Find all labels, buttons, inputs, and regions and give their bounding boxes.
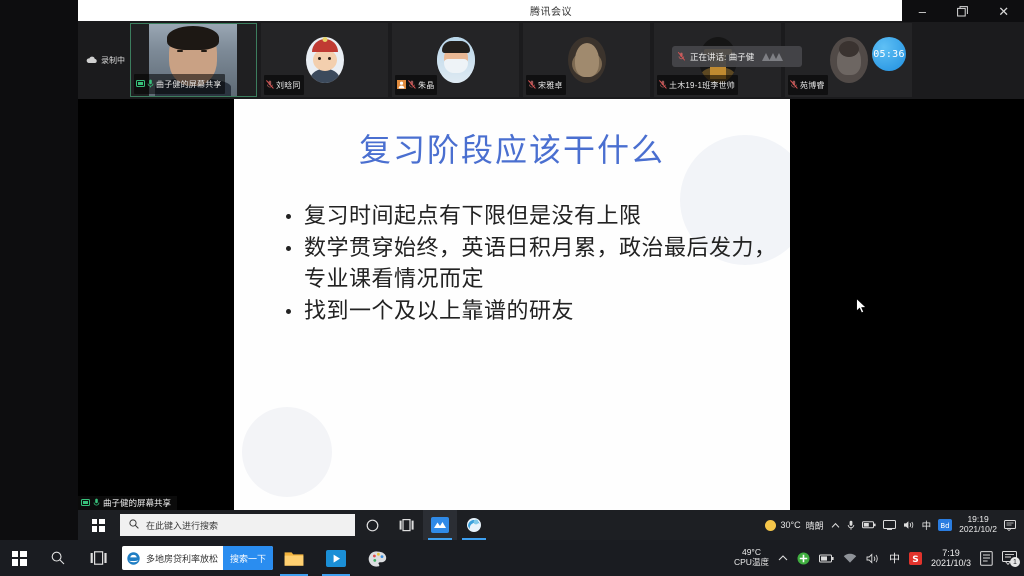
slide-bullet-list: 复习时间起点有下限但是没有上限 数学贯穿始终，英语日积月累，政治最后发力，专业课… bbox=[282, 201, 790, 326]
file-explorer-icon[interactable] bbox=[273, 540, 315, 576]
microphone-muted-icon bbox=[528, 76, 536, 94]
participant-namebar: 朱晶 bbox=[395, 75, 437, 95]
inner-taskbar: 在此键入进行搜索 30°C 晴朗 bbox=[78, 510, 1024, 540]
window-controls: – ✕ bbox=[902, 0, 1024, 22]
volume-icon[interactable] bbox=[903, 520, 915, 530]
mouse-cursor bbox=[856, 298, 867, 319]
internet-explorer-icon bbox=[122, 546, 144, 570]
screen-share-icon bbox=[136, 75, 145, 93]
media-player-icon[interactable] bbox=[315, 540, 357, 576]
ie-search-widget[interactable]: 多地房贷利率放松 搜索一下 bbox=[122, 546, 273, 570]
desktop: 腾讯会议 录制中 bbox=[0, 0, 1024, 576]
cpu-temp-value: 49°C bbox=[742, 547, 761, 557]
participant-name: 刘晗同 bbox=[276, 80, 301, 91]
cloud-recording-icon bbox=[86, 56, 97, 64]
paint-3d-icon[interactable] bbox=[357, 540, 399, 576]
ie-search-query: 多地房贷利率放松 bbox=[144, 552, 223, 565]
cortana-circle-icon[interactable] bbox=[355, 510, 389, 540]
tencent-meeting-window: 腾讯会议 录制中 bbox=[78, 0, 1024, 540]
participant-tile-0[interactable]: 曲子健的屏幕共享 bbox=[130, 23, 257, 97]
participant-filmstrip: 录制中 bbox=[78, 21, 1024, 99]
participant-name: 土木19-1班李世帅 bbox=[669, 80, 735, 91]
sun-icon bbox=[765, 520, 776, 531]
participant-name: 宋雅卓 bbox=[538, 80, 563, 91]
presentation-slide: 复习阶段应该干什么 复习时间起点有下限但是没有上限 数学贯穿始终，英语日积月累，… bbox=[234, 99, 790, 511]
participant-tile-2[interactable]: 朱晶 bbox=[392, 23, 519, 97]
weather-desc: 晴朗 bbox=[806, 519, 824, 532]
microphone-icon[interactable] bbox=[847, 520, 855, 531]
svg-text:Bd: Bd bbox=[941, 522, 950, 530]
maximize-button[interactable] bbox=[948, 6, 978, 17]
battery-icon[interactable] bbox=[862, 521, 876, 529]
participant-tile-1[interactable]: 刘晗同 bbox=[261, 23, 388, 97]
clock-time: 7:19 bbox=[942, 548, 960, 558]
clock-time: 19:19 bbox=[967, 514, 988, 524]
screen-share-banner-label: 曲子健的屏幕共享 bbox=[103, 497, 171, 509]
slide-decoration-circle bbox=[242, 407, 332, 497]
participant-name: 朱晶 bbox=[418, 80, 434, 91]
slide-bullet: 复习时间起点有下限但是没有上限 bbox=[282, 201, 790, 231]
weather-widget[interactable]: 30°C 晴朗 bbox=[765, 519, 824, 532]
notification-icon[interactable] bbox=[1004, 520, 1016, 531]
participant-namebar: 曲子健的屏幕共享 bbox=[134, 74, 225, 94]
recording-indicator: 录制中 bbox=[78, 21, 130, 99]
cpu-temp-label: CPU温度 bbox=[734, 557, 769, 567]
user-badge-icon bbox=[397, 76, 406, 94]
baidu-icon[interactable]: Bd bbox=[938, 519, 952, 531]
notification-count-badge: 1 bbox=[1010, 557, 1020, 567]
microphone-muted-icon bbox=[678, 48, 685, 66]
notes-icon[interactable] bbox=[980, 551, 993, 566]
task-view-icon[interactable] bbox=[78, 540, 118, 576]
participant-namebar: 土木19-1班李世帅 bbox=[657, 75, 738, 95]
meeting-timer: 05:36 bbox=[872, 37, 906, 71]
participant-namebar: 苑博睿 bbox=[788, 75, 828, 95]
cpu-temp-widget[interactable]: 49°C CPU温度 bbox=[734, 548, 769, 568]
battery-icon[interactable] bbox=[819, 554, 834, 563]
microphone-muted-icon bbox=[790, 76, 798, 94]
clock[interactable]: 19:19 2021/10/2 bbox=[959, 515, 997, 534]
shield-green-icon[interactable] bbox=[797, 552, 810, 565]
speaking-toast-label: 正在讲话: 曲子健 bbox=[690, 51, 754, 63]
search-placeholder: 在此键入进行搜索 bbox=[146, 519, 218, 532]
start-button[interactable] bbox=[0, 540, 38, 576]
windows-logo-icon bbox=[12, 551, 27, 566]
inner-system-tray: 30°C 晴朗 bbox=[765, 510, 1024, 540]
task-view-icon[interactable] bbox=[389, 510, 423, 540]
microphone-icon bbox=[147, 75, 154, 93]
sogou-icon[interactable]: S bbox=[909, 552, 922, 565]
microphone-muted-icon bbox=[408, 76, 416, 94]
start-button[interactable] bbox=[78, 510, 118, 540]
screen-share-banner: 曲子健的屏幕共享 bbox=[78, 496, 177, 510]
chevron-up-icon[interactable] bbox=[778, 554, 788, 562]
microphone-muted-icon bbox=[659, 76, 667, 94]
participant-tiles: 曲子健的屏幕共享 刘晗同 bbox=[130, 21, 1024, 99]
ime-chinese-icon[interactable]: 中 bbox=[922, 518, 932, 532]
windows-logo-icon bbox=[92, 519, 105, 532]
clock[interactable]: 7:19 2021/10/3 bbox=[931, 548, 971, 569]
monitor-icon[interactable] bbox=[883, 520, 896, 530]
participant-tile-5[interactable]: 05:36 苑博睿 bbox=[785, 23, 912, 97]
search-input[interactable]: 在此键入进行搜索 bbox=[120, 514, 355, 536]
sound-wave-icon bbox=[761, 52, 783, 62]
screen-share-icon bbox=[81, 494, 90, 512]
weather-temp: 30°C bbox=[781, 520, 801, 530]
notification-icon[interactable]: 1 bbox=[1002, 551, 1017, 565]
window-title: 腾讯会议 bbox=[530, 3, 572, 18]
microphone-muted-icon bbox=[266, 76, 274, 94]
speaking-toast: 正在讲话: 曲子健 bbox=[672, 46, 802, 67]
ie-search-go-button[interactable]: 搜索一下 bbox=[223, 546, 273, 570]
participant-namebar: 刘晗同 bbox=[264, 75, 304, 95]
participant-tile-3[interactable]: 宋雅卓 bbox=[523, 23, 650, 97]
outer-taskbar: 多地房贷利率放松 搜索一下 49°C CPU温度 bbox=[0, 540, 1024, 576]
svg-text:S: S bbox=[912, 555, 918, 565]
search-icon[interactable] bbox=[38, 540, 78, 576]
slide-bullet: 数学贯穿始终，英语日积月累，政治最后发力，专业课看情况而定 bbox=[282, 233, 790, 294]
shared-screen-area: 复习阶段应该干什么 复习时间起点有下限但是没有上限 数学贯穿始终，英语日积月累，… bbox=[78, 99, 1024, 540]
recording-label: 录制中 bbox=[101, 55, 125, 66]
clock-date: 2021/10/2 bbox=[959, 524, 997, 534]
participant-name: 曲子健的屏幕共享 bbox=[156, 79, 222, 90]
slide-bullet: 找到一个及以上靠谱的研友 bbox=[282, 296, 790, 326]
close-button[interactable]: ✕ bbox=[989, 5, 1019, 18]
microphone-icon bbox=[93, 494, 100, 512]
volume-icon[interactable] bbox=[866, 553, 880, 564]
ime-chinese-icon[interactable]: 中 bbox=[889, 550, 900, 566]
chevron-up-icon[interactable] bbox=[831, 522, 840, 529]
participant-namebar: 宋雅卓 bbox=[526, 75, 566, 95]
participant-name: 苑博睿 bbox=[800, 80, 825, 91]
app-blue-icon[interactable] bbox=[423, 510, 457, 540]
slide-title: 复习阶段应该干什么 bbox=[234, 125, 790, 171]
outer-system-tray: 49°C CPU温度 中 S 7:19 bbox=[734, 540, 1024, 576]
wifi-icon[interactable] bbox=[843, 553, 857, 564]
minimize-button[interactable]: – bbox=[907, 5, 937, 18]
clock-date: 2021/10/3 bbox=[931, 558, 971, 568]
search-icon bbox=[129, 516, 139, 534]
app-edge-icon[interactable] bbox=[457, 510, 491, 540]
window-titlebar: 腾讯会议 bbox=[78, 0, 1024, 21]
